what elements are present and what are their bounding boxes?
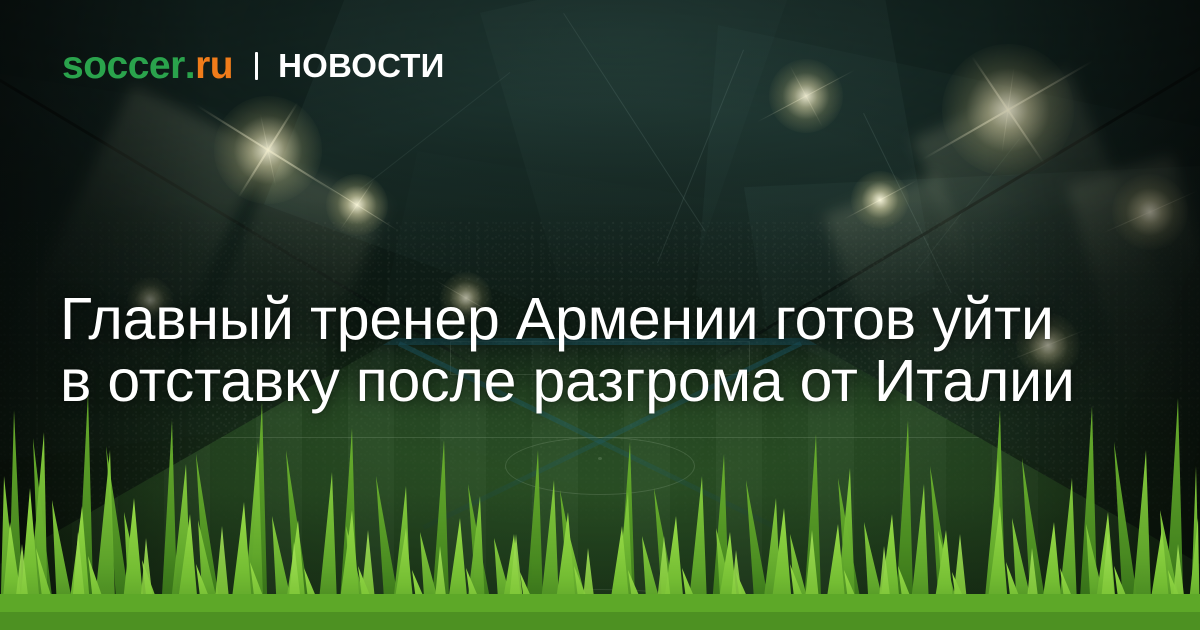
headline-line-2: в отставку после разгрома от Италии	[60, 350, 1150, 413]
logo-word-ru: ru	[195, 46, 233, 85]
vertical-bar-icon	[255, 52, 258, 80]
page-title: Главный тренер Армении готов уйти в отст…	[60, 288, 1150, 413]
logo-dot: .	[185, 46, 195, 85]
news-share-card: soccer . ru НОВОСТИ Главный тренер Армен…	[0, 0, 1200, 630]
section-label: НОВОСТИ	[278, 49, 444, 82]
headline-line-1: Главный тренер Армении готов уйти	[60, 288, 1150, 351]
site-logo[interactable]: soccer . ru НОВОСТИ	[62, 46, 445, 85]
logo-word-soccer: soccer	[62, 46, 185, 85]
grass-blades-icon	[0, 380, 1200, 630]
